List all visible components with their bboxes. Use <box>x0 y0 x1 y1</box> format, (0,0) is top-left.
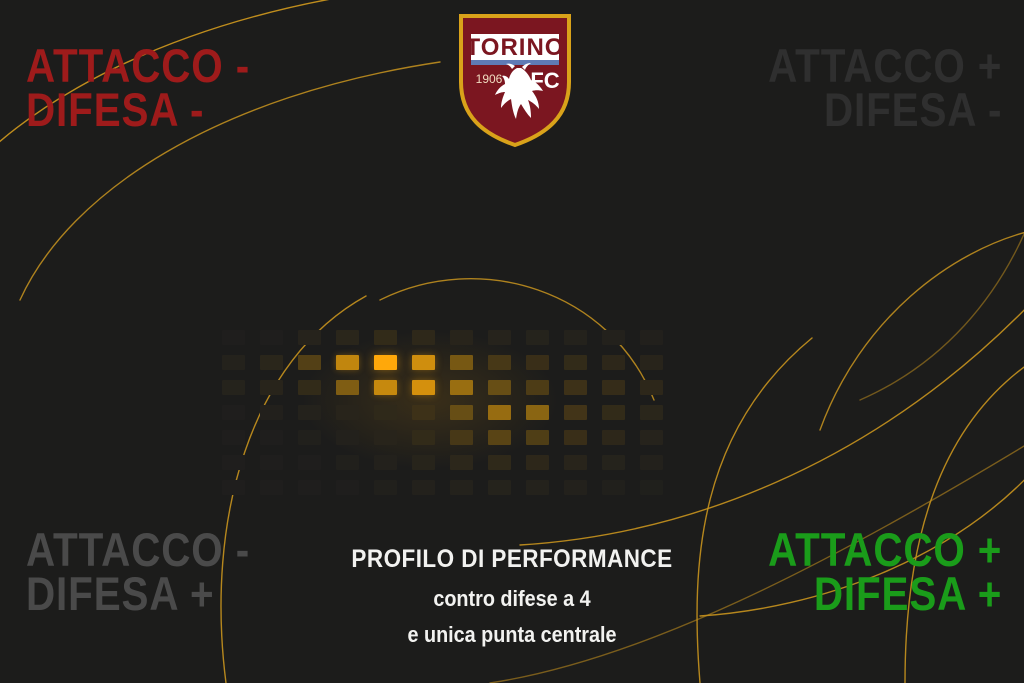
heatmap-cell <box>640 430 663 445</box>
heatmap-cell <box>336 430 359 445</box>
heatmap-cell <box>450 430 473 445</box>
heatmap-cell <box>564 380 587 395</box>
heatmap-cell <box>526 480 549 495</box>
heatmap-cell <box>488 380 511 395</box>
heatmap-cell <box>260 405 283 420</box>
heatmap-cell <box>336 405 359 420</box>
heatmap-cell <box>222 405 245 420</box>
heatmap-cell <box>260 455 283 470</box>
quadrant-defense-label: DIFESA - <box>768 88 1002 132</box>
heatmap-cell <box>640 405 663 420</box>
caption-title: PROFILO DI PERFORMANCE <box>51 545 973 574</box>
heatmap-cell <box>412 330 435 345</box>
heatmap-cell <box>260 480 283 495</box>
heatmap-cell <box>412 430 435 445</box>
heatmap-cell <box>602 430 625 445</box>
heatmap-cell <box>450 455 473 470</box>
heatmap-cell <box>412 380 435 395</box>
heatmap-cell <box>298 355 321 370</box>
heatmap-cell <box>526 330 549 345</box>
heatmap-cell <box>564 405 587 420</box>
heatmap-cell <box>564 430 587 445</box>
heatmap-cell <box>526 380 549 395</box>
heatmap-cell <box>222 430 245 445</box>
heatmap-cell <box>298 480 321 495</box>
heatmap-cell <box>640 355 663 370</box>
heatmap-cell <box>336 355 359 370</box>
heatmap-cell <box>222 355 245 370</box>
heatmap-cell <box>450 355 473 370</box>
heatmap-cell <box>640 455 663 470</box>
quadrant-defense-label: DIFESA - <box>26 88 250 132</box>
heatmap-cell <box>412 480 435 495</box>
heatmap-cell <box>336 480 359 495</box>
heatmap-cell <box>488 430 511 445</box>
performance-profile-infographic: TORINO 1906 FC ATTACCO - DIFESA - ATTACC… <box>0 0 1024 683</box>
heatmap-cell <box>526 430 549 445</box>
caption-line-2: contro difese a 4 <box>51 586 973 612</box>
heatmap-cell <box>488 330 511 345</box>
heatmap-cell <box>222 330 245 345</box>
heatmap-cell <box>450 405 473 420</box>
heatmap-cell <box>374 480 397 495</box>
heatmap-cell <box>602 455 625 470</box>
heatmap-cell <box>602 380 625 395</box>
heatmap-cell <box>488 355 511 370</box>
heatmap-cell <box>374 355 397 370</box>
heatmap-cell <box>374 430 397 445</box>
heatmap-cell <box>412 355 435 370</box>
quadrant-label-top-left: ATTACCO - DIFESA - <box>26 44 250 131</box>
heatmap-cell <box>450 480 473 495</box>
heatmap-cell <box>260 380 283 395</box>
heatmap-cell <box>450 330 473 345</box>
heatmap-cell <box>298 330 321 345</box>
heatmap-cell <box>602 355 625 370</box>
caption-block: PROFILO DI PERFORMANCE contro difese a 4… <box>51 545 973 648</box>
heatmap-cell <box>602 330 625 345</box>
heatmap-cell <box>602 405 625 420</box>
heatmap-cell <box>564 480 587 495</box>
torino-fc-crest-icon: TORINO 1906 FC <box>455 12 575 148</box>
caption-line-3: e unica punta centrale <box>51 622 973 648</box>
heatmap-cell <box>260 430 283 445</box>
heatmap-cell <box>336 330 359 345</box>
heatmap-cell <box>374 330 397 345</box>
heatmap-cell <box>222 380 245 395</box>
heatmap-cell <box>488 405 511 420</box>
heatmap-cell <box>374 380 397 395</box>
crest-club-name: TORINO <box>466 34 565 61</box>
heatmap-cell <box>564 330 587 345</box>
heatmap-cell <box>488 455 511 470</box>
quadrant-label-top-right: ATTACCO + DIFESA - <box>768 44 1002 131</box>
heatmap-cell <box>450 380 473 395</box>
crest-founded-year: 1906 <box>476 72 503 86</box>
quadrant-attack-label: ATTACCO - <box>26 44 250 88</box>
heatmap-cell <box>412 455 435 470</box>
performance-heatmap <box>222 330 646 490</box>
heatmap-cell <box>222 480 245 495</box>
heatmap-cell <box>526 455 549 470</box>
heatmap-cell <box>374 455 397 470</box>
heatmap-cell <box>564 355 587 370</box>
heatmap-cell <box>526 355 549 370</box>
heatmap-cell <box>640 380 663 395</box>
heatmap-cell <box>260 355 283 370</box>
heatmap-cell <box>640 480 663 495</box>
quadrant-attack-label: ATTACCO + <box>768 44 1002 88</box>
heatmap-cell <box>298 430 321 445</box>
heatmap-cell <box>298 455 321 470</box>
heatmap-cell <box>640 330 663 345</box>
heatmap-cell <box>526 405 549 420</box>
heatmap-cell <box>488 480 511 495</box>
heatmap-cell <box>412 405 435 420</box>
heatmap-cell <box>298 380 321 395</box>
heatmap-cell <box>336 380 359 395</box>
heatmap-cell <box>374 405 397 420</box>
heatmap-cell <box>564 455 587 470</box>
heatmap-cell <box>222 455 245 470</box>
heatmap-cell <box>336 455 359 470</box>
heatmap-cell <box>602 480 625 495</box>
heatmap-cell <box>298 405 321 420</box>
heatmap-cell <box>260 330 283 345</box>
